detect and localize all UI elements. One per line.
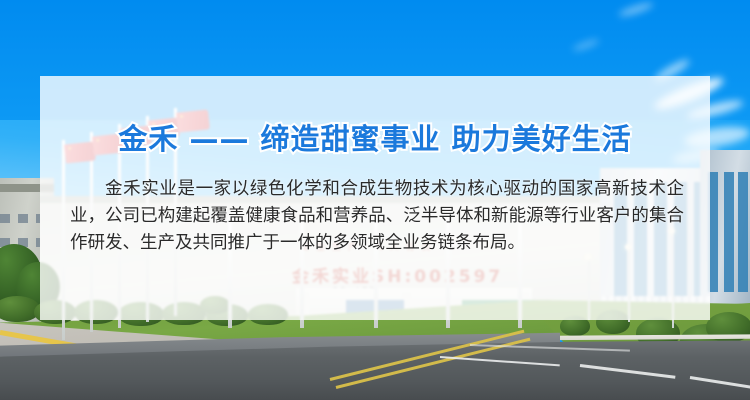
banner-body-text: 金禾实业是一家以绿色化学和合成生物技术为核心驱动的国家高新技术企业，公司已构建起… xyxy=(70,176,684,257)
text-layer: 金禾 —— 缔造甜蜜事业 助力美好生活 金禾实业是一家以绿色化学和合成生物技术为… xyxy=(40,76,710,320)
banner-headline: 金禾 —— 缔造甜蜜事业 助力美好生活 xyxy=(40,116,710,158)
company-banner: 安全生产 人人有责 金禾实业SH:002597 CO.,LTD. xyxy=(0,0,750,400)
